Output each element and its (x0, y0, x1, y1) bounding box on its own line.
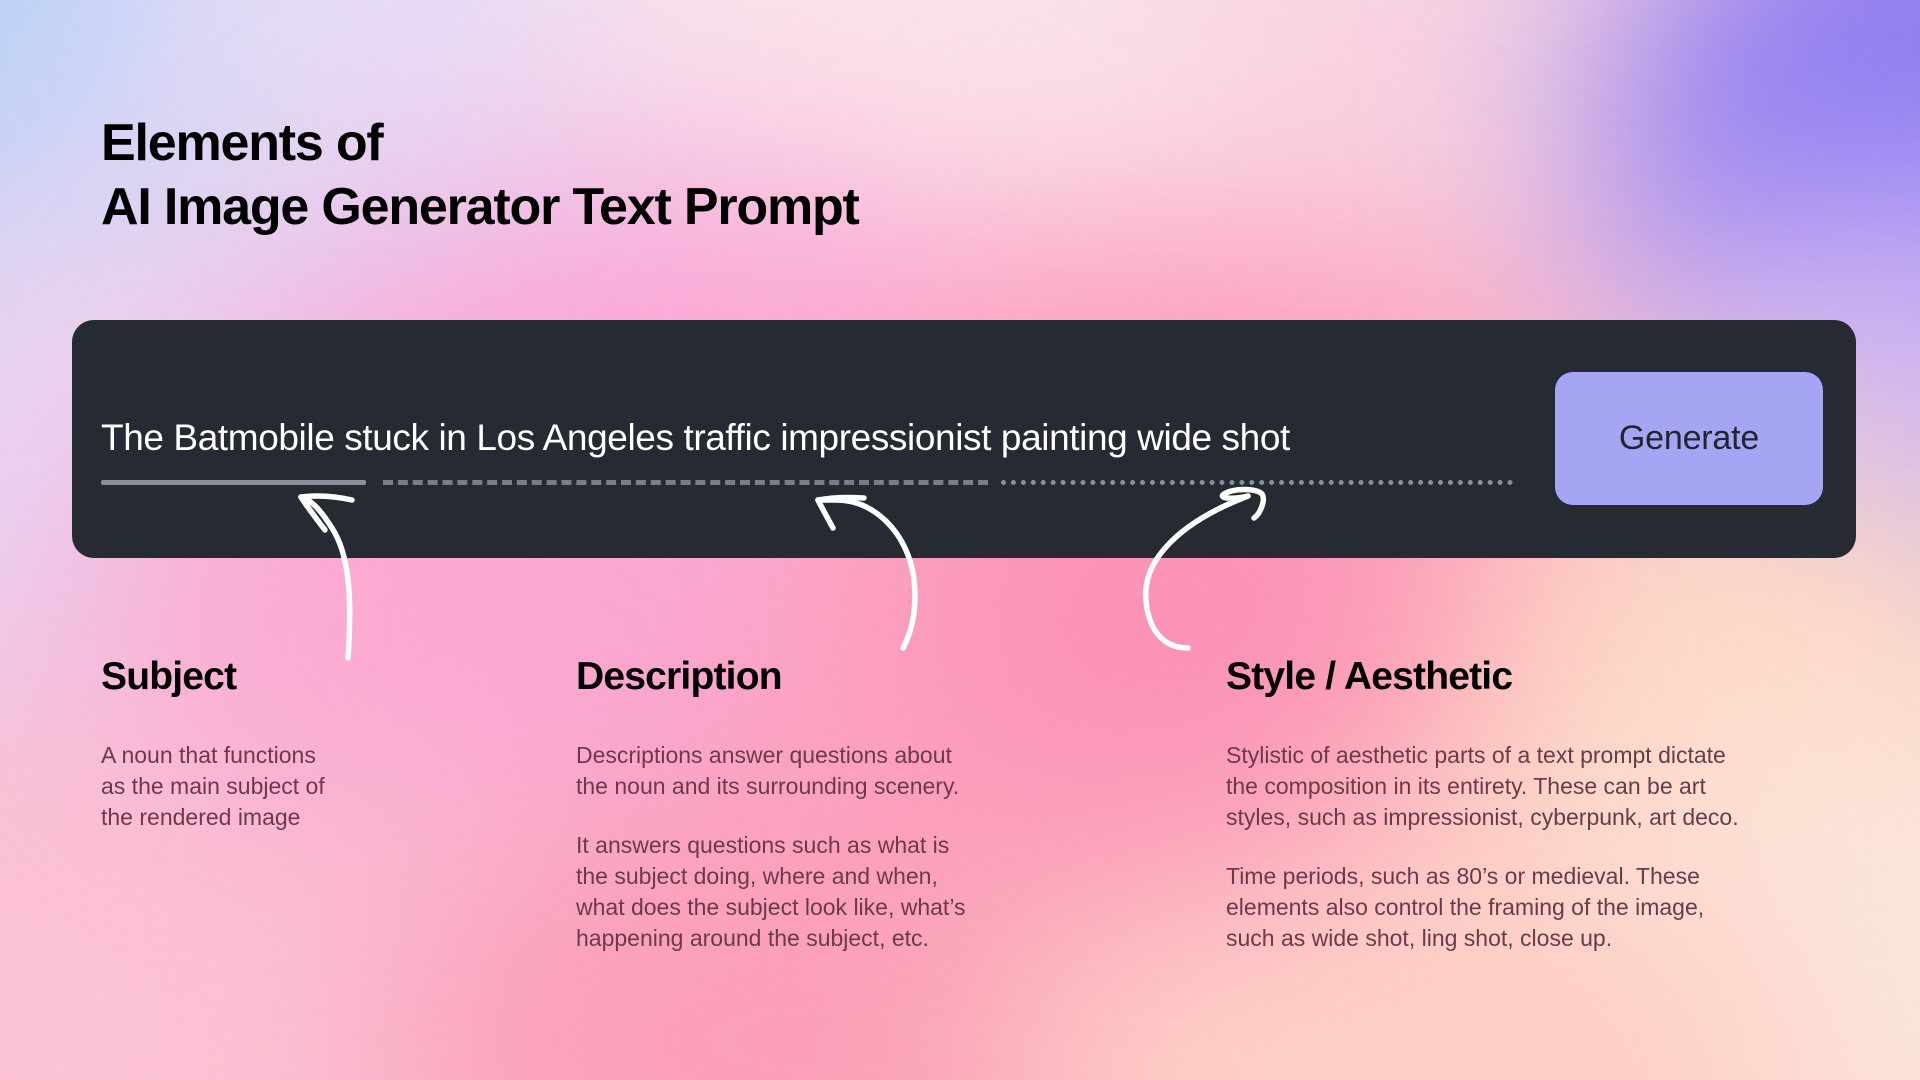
column-subject: Subject A noun that functions as the mai… (101, 654, 431, 833)
column-style-title: Style / Aesthetic (1226, 654, 1846, 700)
prompt-input[interactable]: The Batmobile stuck in Los Angeles traff… (101, 416, 1513, 460)
page-title-line-1: Elements of (101, 111, 859, 175)
column-subject-title: Subject (101, 654, 431, 700)
infographic-page: Elements of AI Image Generator Text Prom… (0, 0, 1920, 1080)
column-style: Style / Aesthetic Stylistic of aesthetic… (1226, 654, 1846, 954)
page-title-line-2: AI Image Generator Text Prompt (101, 175, 859, 239)
page-title: Elements of AI Image Generator Text Prom… (101, 111, 859, 239)
segment-underline-style (1001, 480, 1513, 485)
column-description: Description Descriptions answer question… (576, 654, 1056, 954)
column-subject-paragraph-1: A noun that functions as the main subjec… (101, 740, 431, 833)
column-style-paragraph-1: Stylistic of aesthetic parts of a text p… (1226, 740, 1846, 833)
prompt-segment-underlines (101, 477, 1513, 487)
segment-underline-subject (101, 480, 366, 485)
prompt-bar: The Batmobile stuck in Los Angeles traff… (72, 320, 1856, 558)
column-description-paragraph-2: It answers questions such as what is the… (576, 830, 1056, 954)
column-description-title: Description (576, 654, 1056, 700)
generate-button[interactable]: Generate (1555, 372, 1823, 505)
column-style-paragraph-2: Time periods, such as 80’s or medieval. … (1226, 861, 1846, 954)
column-description-paragraph-1: Descriptions answer questions about the … (576, 740, 1056, 802)
segment-underline-description (383, 480, 988, 485)
prompt-input-value[interactable]: The Batmobile stuck in Los Angeles traff… (101, 416, 1513, 460)
